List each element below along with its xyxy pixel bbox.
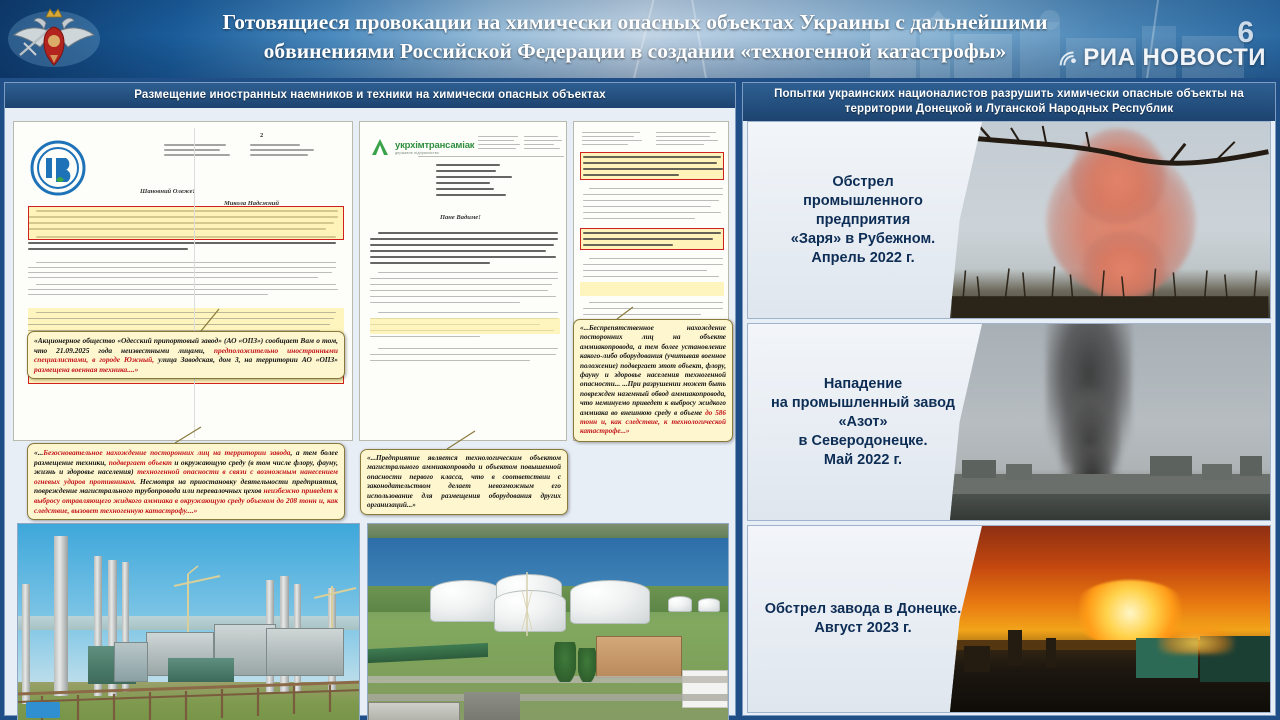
slide-header: Готовящиеся провокации на химически опас… [0, 0, 1280, 78]
callout-opz-danger: «...Безосновательное нахождение посторон… [27, 443, 345, 520]
fire-glow [1158, 626, 1234, 654]
card-azot-severodonetsk[interactable]: Нападение на промышленный завод «Азот» в… [747, 323, 1271, 521]
caption-line: «Заря» в Рубежном. [791, 230, 935, 249]
right-panel-title-line-2: территории Донецкой и Луганской Народных… [769, 102, 1249, 117]
page-title: Готовящиеся провокации на химически опас… [110, 8, 1160, 66]
smokestack [1046, 638, 1056, 668]
orange-smoke-plume-photo [950, 122, 1270, 318]
callout-ammiakoprovod-class1: «...Предприятие является технологическим… [360, 449, 568, 515]
callout-text-part: улица Заводская, дом 3, на территории АО… [158, 355, 338, 364]
card-zarya-rubezhnoe-caption: Обстрел промышленного предприятия «Заря»… [748, 122, 978, 318]
black-smoke-column-photo [950, 324, 1270, 520]
ria-signal-icon [1057, 47, 1079, 69]
callout-text-part: «...Беспрепятственное нахождение посторо… [580, 324, 726, 388]
right-panel-title-line-1: Попытки украинских националистов разруши… [769, 87, 1249, 102]
caption-line: предприятия [791, 211, 935, 230]
callout-text-part-red: Безосновательное нахождение посторонних … [43, 448, 290, 457]
smokestack [1008, 630, 1022, 666]
caption-line: Обстрел завода в Донецке. [765, 600, 962, 619]
caption-line: «Азот» [771, 413, 955, 432]
ria-novosti-label: РИА НОВОСТИ [1083, 44, 1266, 72]
right-panel: Попытки украинских националистов разруши… [742, 82, 1276, 716]
page-title-line-2: обвинениями Российской Федерации в созда… [110, 37, 1160, 66]
caption-line: Август 2023 г. [765, 619, 962, 638]
card-zarya-rubezhnoe[interactable]: Обстрел промышленного предприятия «Заря»… [747, 121, 1271, 319]
left-panel: Размещение иностранных наемников и техни… [4, 82, 736, 716]
card-donetsk-plant[interactable]: Обстрел завода в Донецке. Август 2023 г. [747, 525, 1271, 713]
card-azot-severodonetsk-caption: Нападение на промышленный завод «Азот» в… [748, 324, 978, 520]
tree-branches [950, 122, 1270, 318]
callout-text-part-red: подвергает объект [109, 458, 172, 467]
caption-line: промышленного [791, 192, 935, 211]
caption-line: Май 2022 г. [771, 451, 955, 470]
caption-line: на промышленный завод [771, 394, 955, 413]
callout-opz-mercenaries: «Акционерное общество «Одесский припорто… [27, 331, 345, 379]
slide-root: Готовящиеся провокации на химически опас… [0, 0, 1280, 720]
caption-line: в Северодонецке. [771, 432, 955, 451]
callout-text-part: «...Предприятие является технологическим… [367, 454, 561, 509]
callout-text-part: «... [34, 448, 43, 457]
card-donetsk-plant-caption: Обстрел завода в Донецке. Август 2023 г. [748, 526, 978, 712]
ria-novosti-watermark: РИА НОВОСТИ [1057, 44, 1266, 72]
callout-586-tonn: «...Беспрепятственное нахождение посторо… [573, 319, 733, 442]
russian-mod-emblem [6, 3, 102, 73]
page-title-line-1: Готовящиеся провокации на химически опас… [110, 8, 1160, 37]
sunset-fire-photo [950, 526, 1270, 712]
caption-line: Нападение [771, 375, 955, 394]
caption-line: Апрель 2022 г. [791, 249, 935, 268]
caption-line: Обстрел [791, 173, 935, 192]
right-panel-title: Попытки украинских националистов разруши… [743, 83, 1275, 121]
callout-text-part-red: размещена военная техника....» [34, 365, 138, 374]
